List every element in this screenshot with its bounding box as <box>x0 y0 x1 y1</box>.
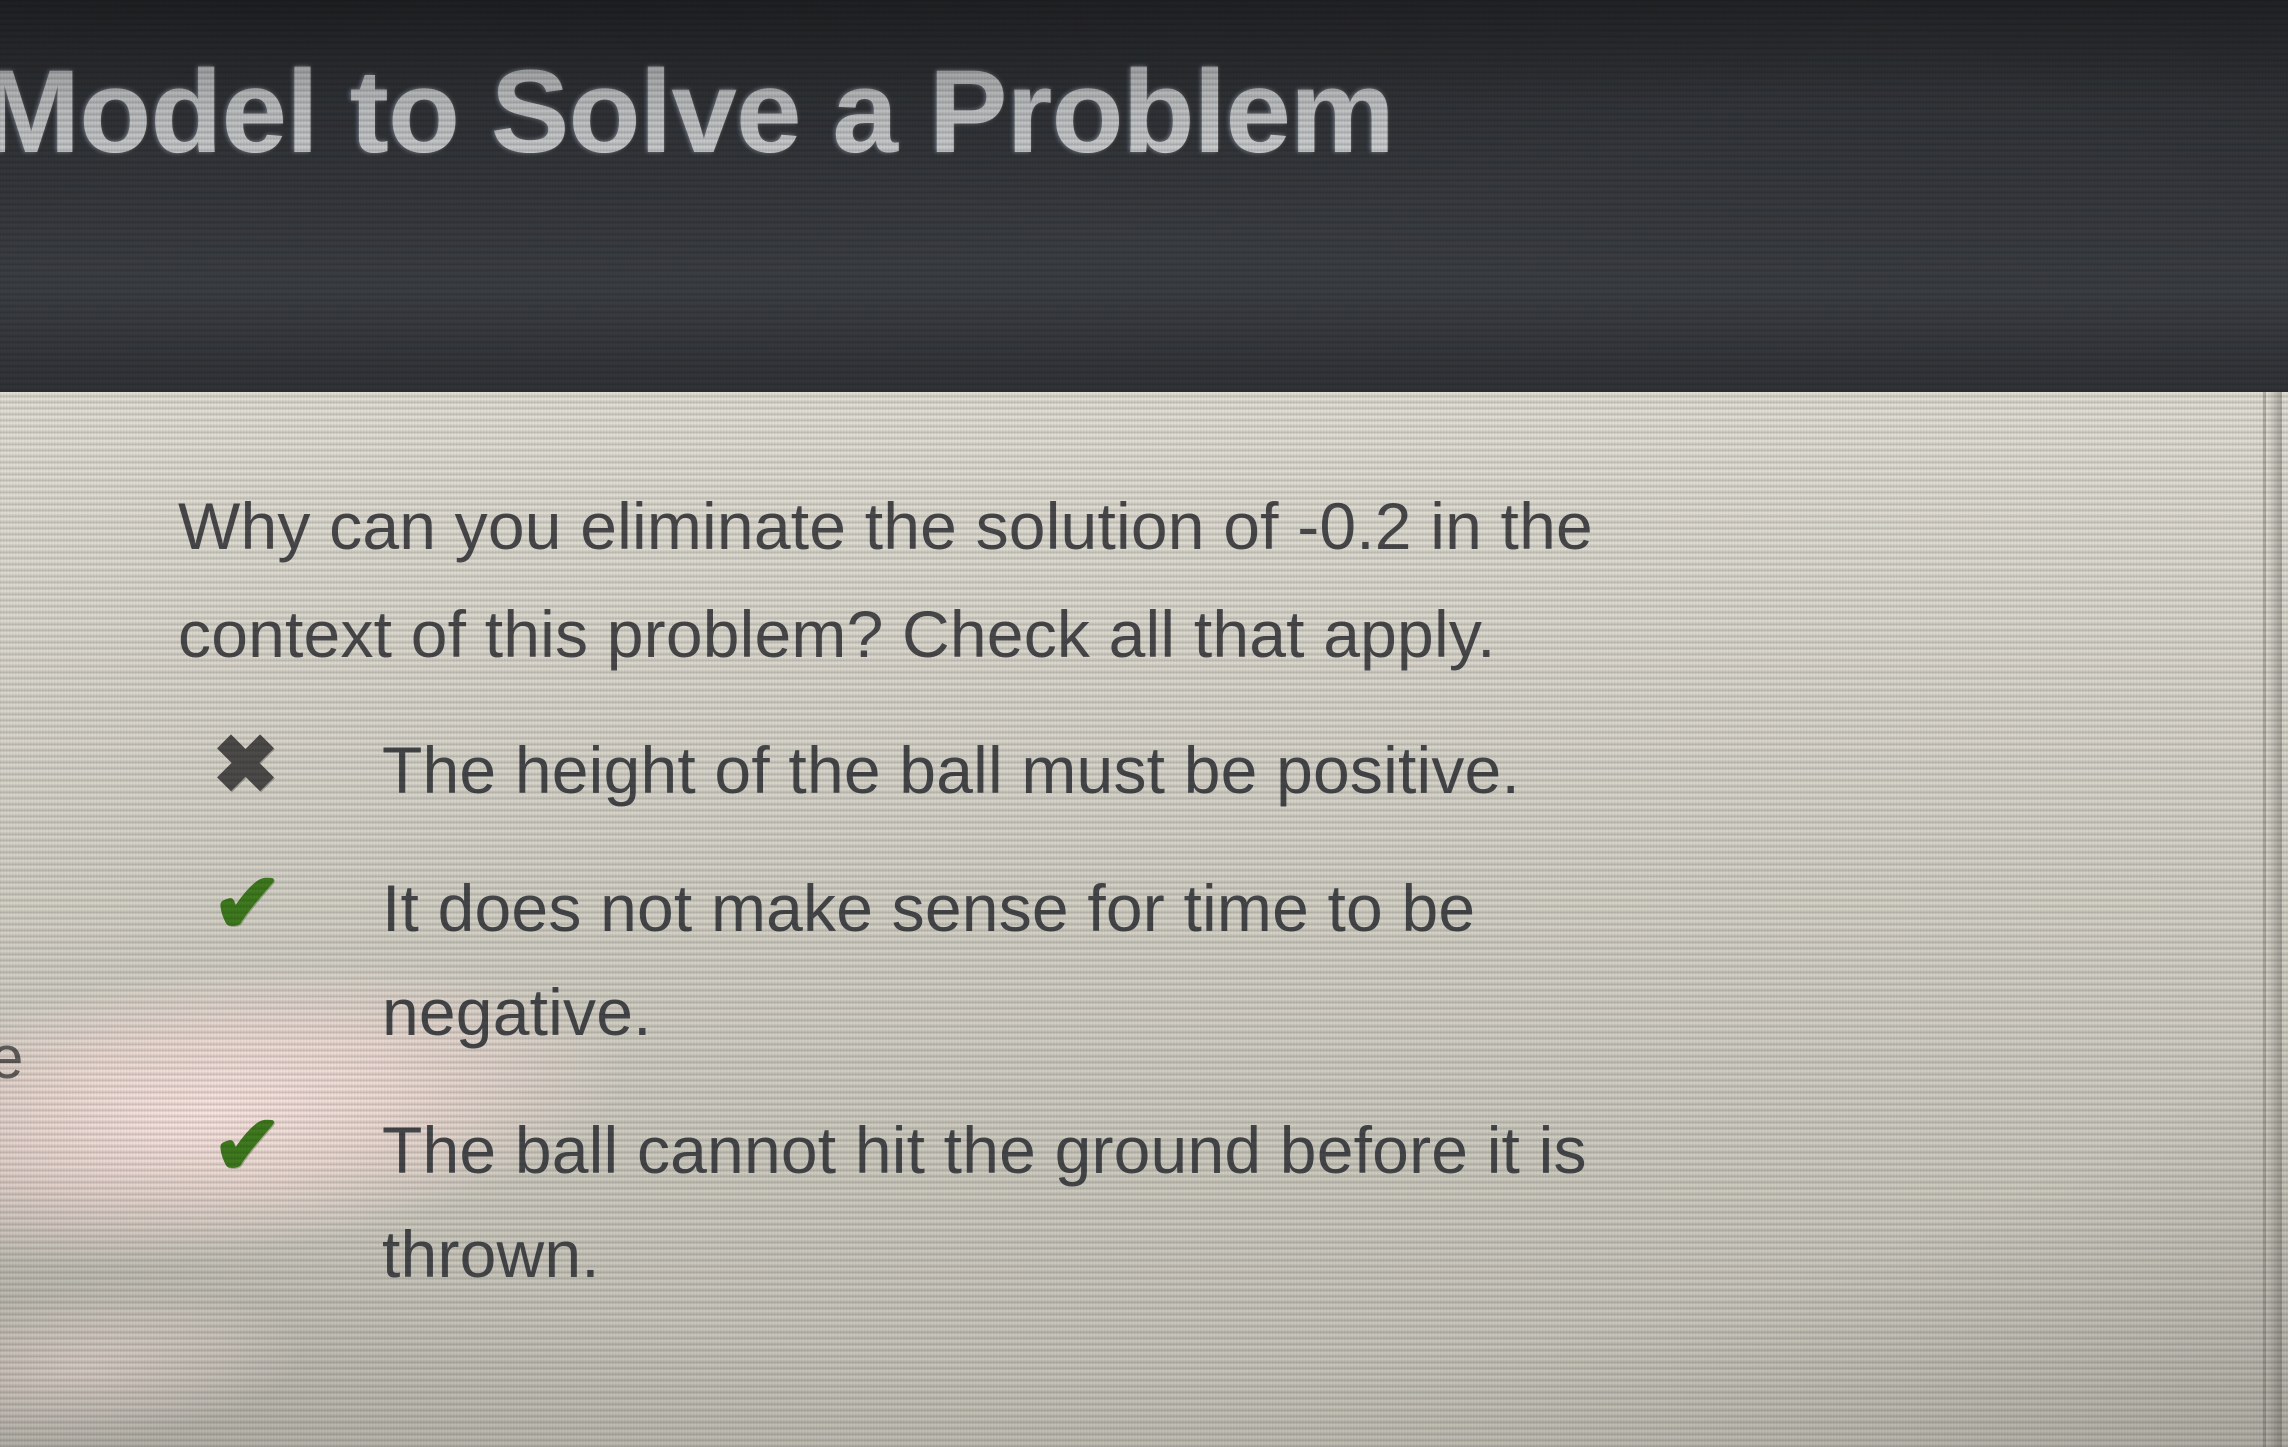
check-icon[interactable]: ✔ <box>196 856 382 950</box>
answer-option-1-line-1: The height of the ball must be positive. <box>382 718 2196 822</box>
answer-option-3-line-2: thrown. <box>382 1202 2196 1306</box>
answer-option-2-line-1: It does not make sense for time to be <box>382 856 2196 960</box>
screen-photo: Model to Solve a Problem e Why can you e… <box>0 0 2288 1447</box>
answer-option-3-label: The ball cannot hit the ground before it… <box>382 1098 2196 1306</box>
cross-icon[interactable]: ✖ <box>196 718 382 812</box>
answer-option-1[interactable]: ✖ The height of the ball must be positiv… <box>196 718 2196 822</box>
answer-option-2-label: It does not make sense for time to be ne… <box>382 856 2196 1064</box>
page-right-edge-line <box>2263 392 2266 1447</box>
answer-option-3-line-1: The ball cannot hit the ground before it… <box>382 1098 2196 1202</box>
check-icon[interactable]: ✔ <box>196 1098 382 1192</box>
left-margin-clipped-glyph: e <box>0 1030 26 1086</box>
page-right-edge-shadow <box>2268 392 2282 1447</box>
header-bar: Model to Solve a Problem <box>0 0 2288 392</box>
question-prompt: Why can you eliminate the solution of -0… <box>178 472 2138 688</box>
answer-option-2[interactable]: ✔ It does not make sense for time to be … <box>196 856 2196 1064</box>
answer-option-1-label: The height of the ball must be positive. <box>382 718 2196 822</box>
answer-options-list: ✖ The height of the ball must be positiv… <box>196 718 2196 1340</box>
answer-option-3[interactable]: ✔ The ball cannot hit the ground before … <box>196 1098 2196 1306</box>
page-title: Model to Solve a Problem <box>0 44 2082 180</box>
question-line-2: context of this problem? Check all that … <box>178 580 2138 688</box>
content-panel: e Why can you eliminate the solution of … <box>0 392 2288 1447</box>
question-line-1: Why can you eliminate the solution of -0… <box>178 472 2138 580</box>
answer-option-2-line-2: negative. <box>382 960 2196 1064</box>
